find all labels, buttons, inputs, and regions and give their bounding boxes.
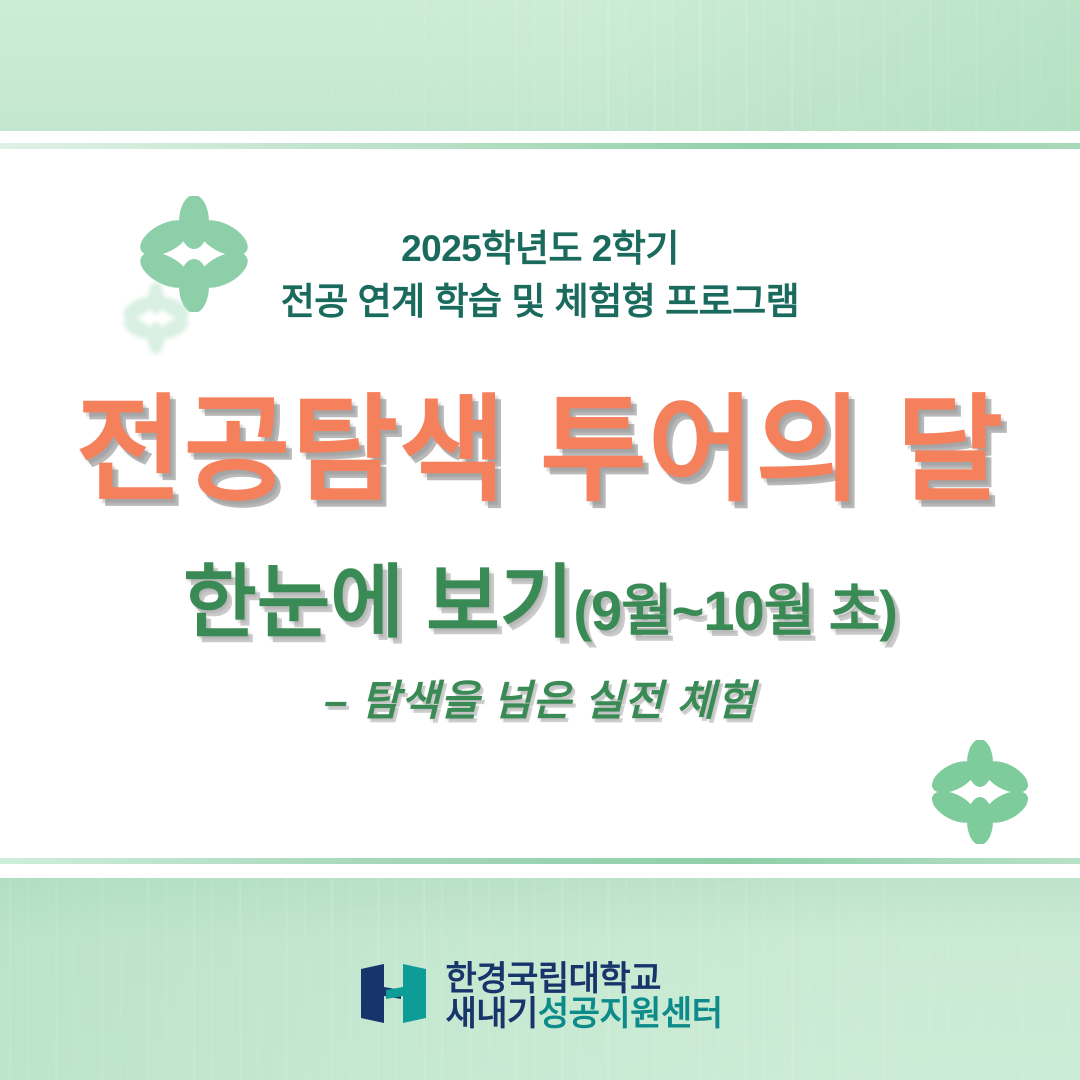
- hankyong-h-logo-icon: [357, 963, 431, 1030]
- kicker-line-2: 전공 연계 학습 및 체험형 프로그램: [0, 276, 1080, 329]
- top-divider-rule: [0, 143, 1080, 149]
- logo-wordmark: 한경국립대학교 새내기성공지원센터: [445, 962, 722, 1031]
- kicker-line-1: 2025학년도 2학기: [401, 228, 679, 269]
- band-texture-stripes: [0, 0, 1080, 131]
- logo-university-name: 한경국립대학교: [445, 962, 722, 997]
- bottom-divider-rule: [0, 858, 1080, 864]
- logo-center-name: 새내기성공지원센터: [445, 997, 722, 1032]
- poster-sub-title: 한눈에 보기(9월~10월 초): [0, 563, 1080, 643]
- university-logo: 한경국립대학교 새내기성공지원센터: [0, 962, 1080, 1031]
- logo-center-suffix: 성공지원센터: [538, 995, 723, 1033]
- sub-title-period: (9월~10월 초): [573, 579, 897, 642]
- poster-tagline: – 탐색을 넘은 실전 체험: [0, 667, 1080, 728]
- sub-title-main: 한눈에 보기: [183, 558, 573, 647]
- poster-canvas: 2025학년도 2학기 전공 연계 학습 및 체험형 프로그램 전공탐색 투어의…: [0, 0, 1080, 1080]
- poster-kicker: 2025학년도 2학기 전공 연계 학습 및 체험형 프로그램: [0, 223, 1080, 328]
- logo-center-prefix: 새내기: [445, 995, 537, 1033]
- poster-main-title: 전공탐색 투어의 달: [0, 392, 1080, 508]
- top-decorative-band: [0, 0, 1080, 131]
- flower-icon: [932, 740, 1028, 844]
